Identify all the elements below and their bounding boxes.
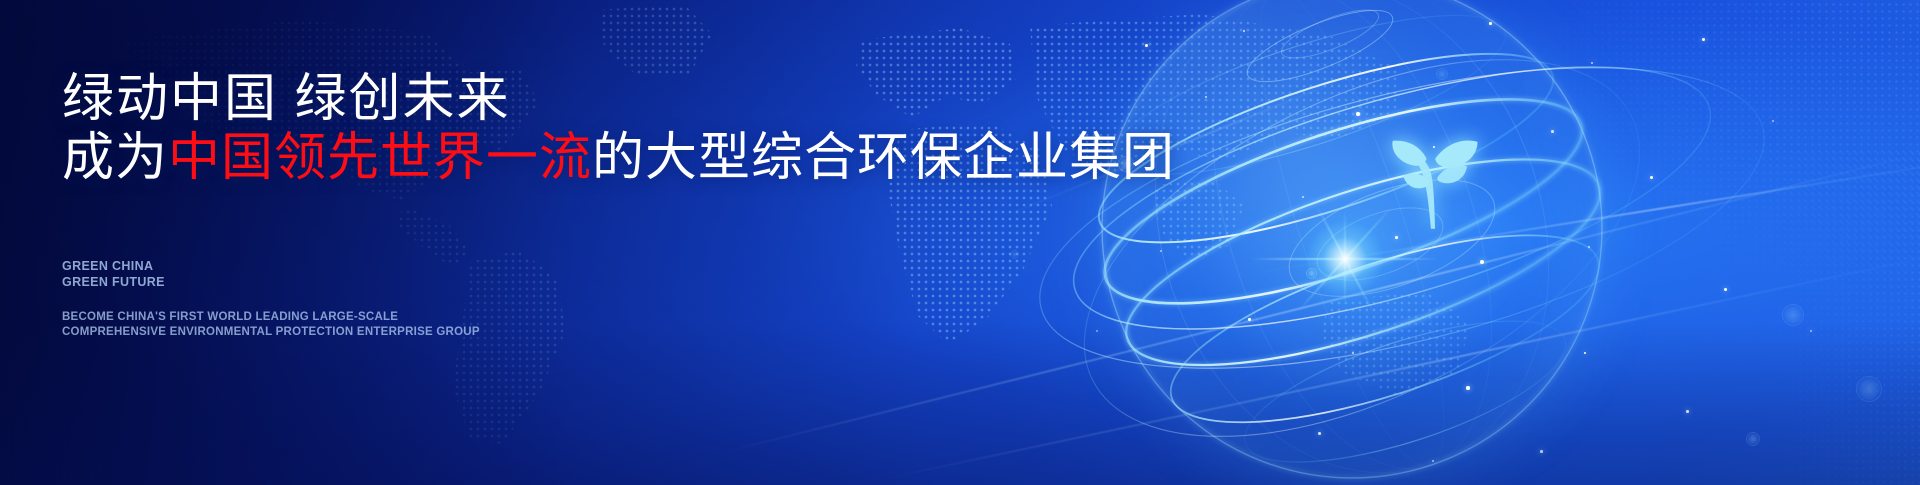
sprout-leaf-icon — [1380, 126, 1486, 234]
tagline-english-line1: BECOME CHINA'S FIRST WORLD LEADING LARGE… — [62, 310, 480, 325]
headline-secondary-suffix: 的大型综合环保企业集团 — [592, 129, 1175, 187]
burst-ray — [1316, 206, 1374, 313]
burst-ray — [1344, 211, 1346, 307]
halftone-dots-far-right — [1720, 150, 1920, 485]
hero-banner: 绿动中国 绿创未来 成为中国领先世界一流的大型综合环保企业集团 GREEN CH… — [0, 0, 1920, 485]
burst-core — [1285, 199, 1405, 319]
burst-ray — [1297, 206, 1392, 311]
burst-ray — [1250, 258, 1440, 260]
globe-sphere — [1102, 0, 1602, 478]
headline-secondary: 成为中国领先世界一流的大型综合环保企业集团 — [62, 131, 1175, 186]
slogan-english: GREEN CHINA GREEN FUTURE — [62, 258, 165, 290]
wireframe-globe — [1062, 0, 1662, 485]
headline-secondary-highlight: 中国领先世界一流 — [168, 129, 592, 187]
halftone-dots-top-right — [1340, 0, 1920, 400]
slogan-english-line2: GREEN FUTURE — [62, 274, 165, 290]
tagline-english-line2: COMPREHENSIVE ENVIRONMENTAL PROTECTION E… — [62, 325, 480, 340]
slogan-english-line1: GREEN CHINA — [62, 258, 165, 274]
headline-primary: 绿动中国 绿创未来 — [62, 72, 510, 127]
tagline-english: BECOME CHINA'S FIRST WORLD LEADING LARGE… — [62, 310, 480, 340]
glow-burst — [1230, 144, 1460, 374]
headline-secondary-prefix: 成为 — [62, 129, 168, 187]
banner-text-block: 绿动中国 绿创未来 成为中国领先世界一流的大型综合环保企业集团 GREEN CH… — [62, 0, 1062, 485]
globe-glow — [942, 0, 1782, 485]
globe-wireframe-lines — [1062, 0, 1662, 485]
